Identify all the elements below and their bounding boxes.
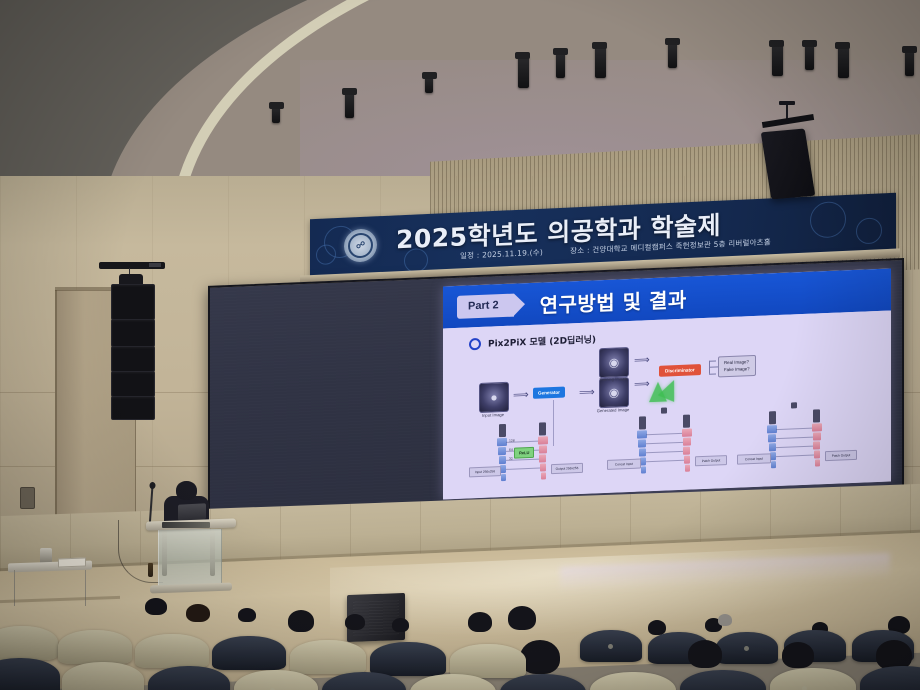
- training-image-label: Training Image: [586, 376, 640, 383]
- unet-output-caption: Output 256x256: [551, 463, 583, 475]
- audience-head: [186, 604, 210, 622]
- discriminator-box: Discriminator: [659, 364, 701, 377]
- seat: [370, 642, 446, 676]
- slide-body: Pix2PiX 모델 (2D딥러닝) ● Input Image ⟹ Gener…: [443, 310, 891, 499]
- generator-unet-diagram: ReLU Input 256x256 Output 256x256 128 64…: [473, 419, 591, 496]
- seat: [770, 668, 856, 690]
- seat: [0, 626, 58, 660]
- audience-head: [508, 606, 536, 630]
- generator-box: Generator: [533, 387, 565, 399]
- audience-head: [782, 642, 814, 668]
- unet-input-caption: Concat Input: [737, 453, 771, 465]
- table-placard: [58, 558, 86, 568]
- stage-spotlight-icon: [772, 44, 783, 76]
- stage-spotlight-icon: [345, 92, 354, 118]
- unet-input-caption: Concat Input: [607, 459, 641, 471]
- training-image-thumbnail: ◉: [599, 347, 629, 378]
- input-image-thumbnail: ●: [479, 382, 509, 413]
- seat: [0, 658, 60, 690]
- slide-bullet: Pix2PiX 모델 (2D딥러닝): [469, 332, 596, 350]
- stage-spotlight-icon: [425, 76, 433, 93]
- audience-head: [392, 618, 409, 632]
- slide-bullet-label: Pix2PiX 모델 (2D딥러닝): [488, 332, 596, 349]
- seat: [290, 640, 366, 674]
- audience-head: [718, 614, 732, 626]
- seat: [62, 662, 144, 690]
- audience-head: [145, 598, 167, 615]
- fake-image-label: Fake Image?: [724, 366, 750, 374]
- slide-title: 연구방법 및 결과: [540, 283, 687, 318]
- relu-activation-chip: ReLU: [514, 447, 534, 459]
- stage-spotlight-icon: [668, 42, 677, 68]
- discriminator-unet-diagram-a: Concat Input Patch Output: [613, 413, 731, 490]
- seat: [450, 644, 526, 678]
- stage-spotlight-icon: [838, 46, 849, 78]
- slide-part-badge: Part 2: [457, 293, 514, 318]
- bullet-circle-icon: [469, 337, 481, 349]
- presenter-head: [176, 481, 197, 500]
- seat: [590, 672, 676, 690]
- audience-head: [288, 610, 314, 632]
- gan-diagram: ● Input Image ⟹ Generator ⟹ ◉ Generated …: [471, 338, 863, 420]
- seat: [135, 634, 209, 668]
- lectern-nameplate: [162, 522, 210, 528]
- presentation-slide: Part 2 연구방법 및 결과 Pix2PiX 모델 (2D딥러닝) ● In…: [443, 268, 891, 499]
- laptop: [178, 503, 206, 520]
- auditorium-photo: ☍ 2025학년도 의공학과 학술제 일정 : 2025.11.19.(수) 장…: [0, 0, 920, 690]
- stage-spotlight-icon: [272, 106, 280, 123]
- unet-output-caption: Patch Output: [695, 455, 727, 467]
- lectern: [152, 520, 230, 592]
- input-image-label: Input Image: [466, 411, 520, 418]
- audience-head: [345, 614, 365, 630]
- audience-head: [688, 640, 722, 668]
- generated-image-label: Generated Image: [586, 407, 640, 414]
- line-array-speaker: [105, 262, 157, 422]
- discriminator-output-box: Real Image? Fake Image?: [718, 355, 756, 378]
- stage-spotlight-icon: [805, 44, 814, 70]
- stage-spotlight-icon: [518, 56, 529, 88]
- banner-date: 일정 : 2025.11.19.(수): [460, 248, 543, 261]
- audience-head: [468, 612, 492, 632]
- seat: [860, 666, 920, 690]
- water-bottle: [148, 563, 153, 577]
- seat: [212, 636, 286, 670]
- audience-seating: [0, 596, 920, 690]
- unet-output-caption: Patch Output: [825, 450, 857, 462]
- seat: [680, 670, 766, 690]
- audience-head: [238, 608, 256, 622]
- university-emblem-icon: ☍: [344, 228, 377, 262]
- seat: [148, 666, 230, 690]
- led-video-wall: Part 2 연구방법 및 결과 Pix2PiX 모델 (2D딥러닝) ● In…: [208, 258, 900, 516]
- discriminator-unet-diagram-b: Concat Input Patch Output: [743, 408, 861, 485]
- seat: [58, 630, 132, 664]
- stage-spotlight-icon: [556, 52, 565, 78]
- stage-spotlight-icon: [595, 46, 606, 78]
- wall-control-panel[interactable]: [20, 487, 35, 509]
- audience-head: [520, 640, 560, 674]
- unet-input-caption: Input 256x256: [469, 466, 501, 478]
- stage-spotlight-icon: [905, 50, 914, 76]
